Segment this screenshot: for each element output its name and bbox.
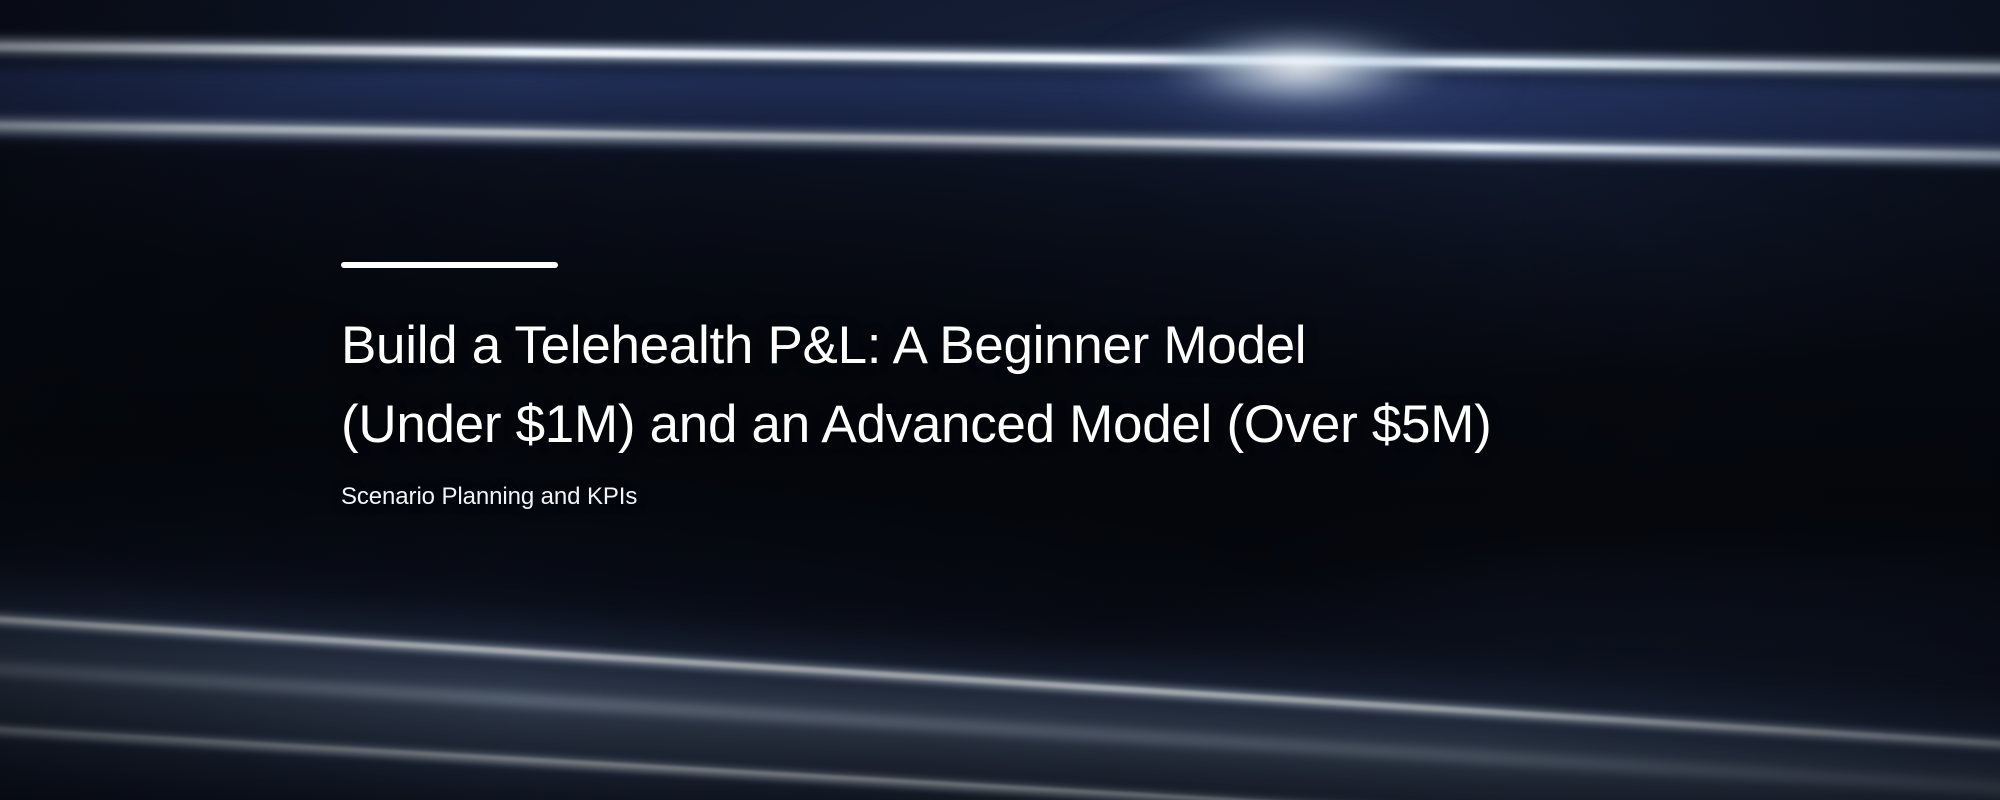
accent-rule: [341, 262, 558, 268]
page-title: Build a Telehealth P&L: A Beginner Model…: [341, 306, 1761, 464]
vignette-bottom-overlay: [0, 570, 2000, 800]
hero-banner: Build a Telehealth P&L: A Beginner Model…: [0, 0, 2000, 800]
page-subtitle: Scenario Planning and KPIs: [341, 481, 1761, 513]
hero-content: Build a Telehealth P&L: A Beginner Model…: [341, 262, 1761, 513]
